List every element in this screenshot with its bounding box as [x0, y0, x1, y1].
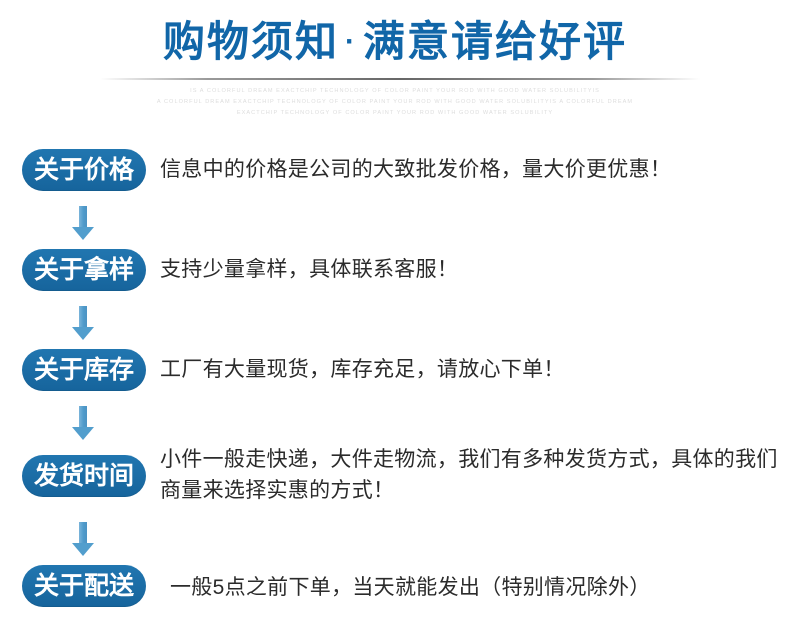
microtext-line-2: A COLORFUL DREAM EXACTCHIP TECHNOLOGY OF…	[0, 97, 790, 108]
header-banner: 购物须知·满意请给好评 IS A COLORFUL DREAM EXACTCHI…	[0, 0, 790, 132]
microtext-line-1: IS A COLORFUL DREAM EXACTCHIP TECHNOLOGY…	[0, 86, 790, 97]
pill-label-delivery[interactable]: 关于配送	[22, 565, 146, 607]
page-title-left: 购物须知	[163, 18, 339, 65]
page-title: 购物须知·满意请给好评	[0, 14, 790, 70]
title-separator-dot: ·	[339, 25, 363, 58]
notice-row-shipping-time: 发货时间 小件一般走快递，大件走物流，我们有多种发货方式，具体的我们商量来选择实…	[0, 444, 790, 514]
header-divider	[100, 78, 700, 80]
notice-row-sample: 关于拿样 支持少量拿样，具体联系客服！	[0, 244, 790, 296]
notice-row-delivery: 关于配送 一般5点之前下单，当天就能发出（特别情况除外）	[0, 560, 790, 612]
notice-text-delivery: 一般5点之前下单，当天就能发出（特别情况除外）	[170, 572, 790, 603]
pill-label-sample[interactable]: 关于拿样	[22, 249, 146, 291]
decorative-microtext: IS A COLORFUL DREAM EXACTCHIP TECHNOLOGY…	[0, 86, 790, 120]
notice-row-price: 关于价格 信息中的价格是公司的大致批发价格，量大价更优惠！	[0, 144, 790, 196]
arrow-down-icon-1	[72, 206, 94, 241]
pill-label-stock[interactable]: 关于库存	[22, 349, 146, 391]
notice-text-stock: 工厂有大量现货，库存充足，请放心下单！	[160, 354, 785, 385]
pill-label-shipping-time[interactable]: 发货时间	[22, 455, 146, 497]
arrow-down-icon-3	[72, 406, 94, 441]
arrow-down-icon-4	[72, 522, 94, 557]
notice-text-sample: 支持少量拿样，具体联系客服！	[160, 254, 785, 285]
pill-label-price[interactable]: 关于价格	[22, 149, 146, 191]
notice-text-price: 信息中的价格是公司的大致批发价格，量大价更优惠！	[160, 154, 785, 185]
notice-text-shipping-time: 小件一般走快递，大件走物流，我们有多种发货方式，具体的我们商量来选择实惠的方式！	[160, 444, 785, 506]
arrow-down-icon-2	[72, 306, 94, 341]
page-title-right: 满意请给好评	[363, 18, 627, 65]
microtext-line-3: EXACTCHIP TECHNOLOGY OF COLOR PAINT YOUR…	[0, 108, 790, 119]
notice-row-stock: 关于库存 工厂有大量现货，库存充足，请放心下单！	[0, 344, 790, 396]
